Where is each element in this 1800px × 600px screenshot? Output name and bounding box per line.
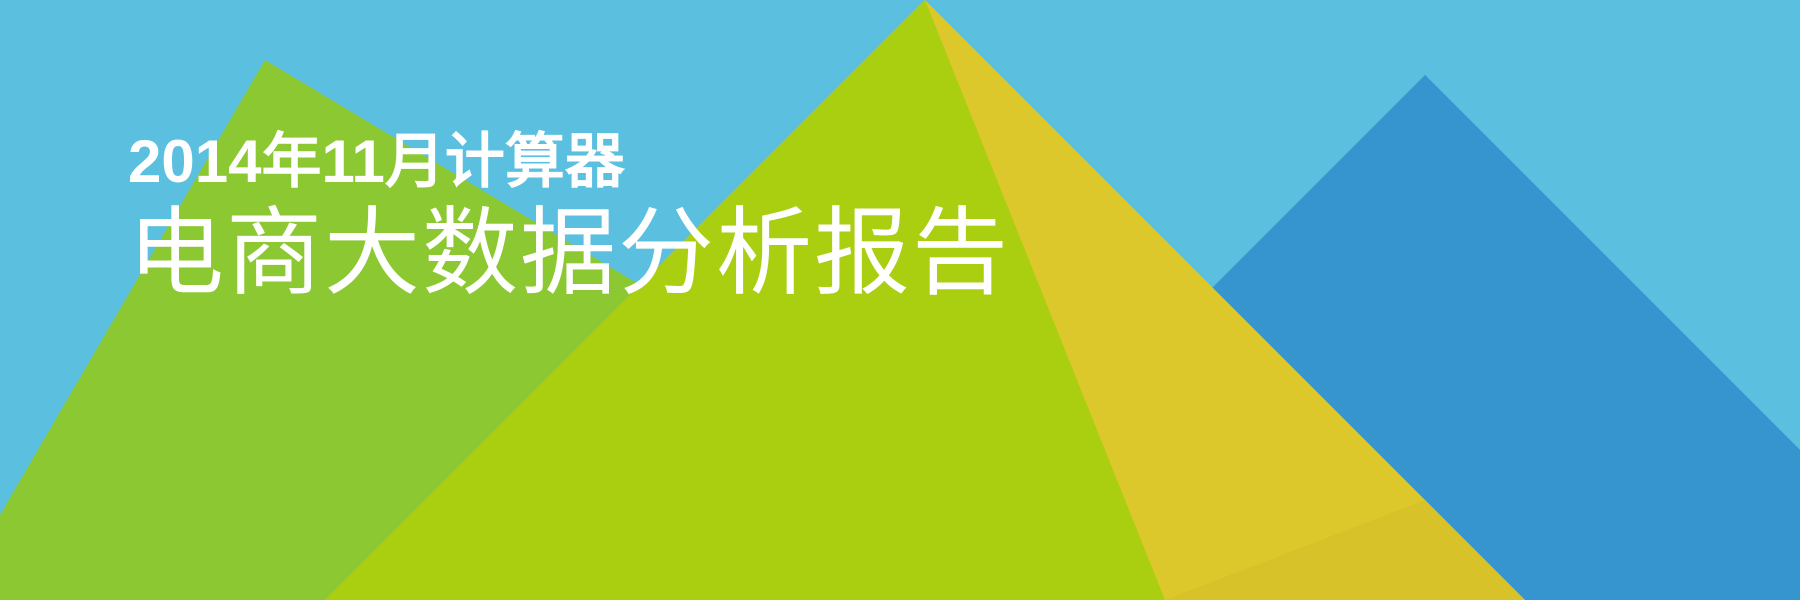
- title-slide: 2014年11月计算器 电商大数据分析报告: [0, 0, 1800, 600]
- background-geometry: [0, 0, 1800, 600]
